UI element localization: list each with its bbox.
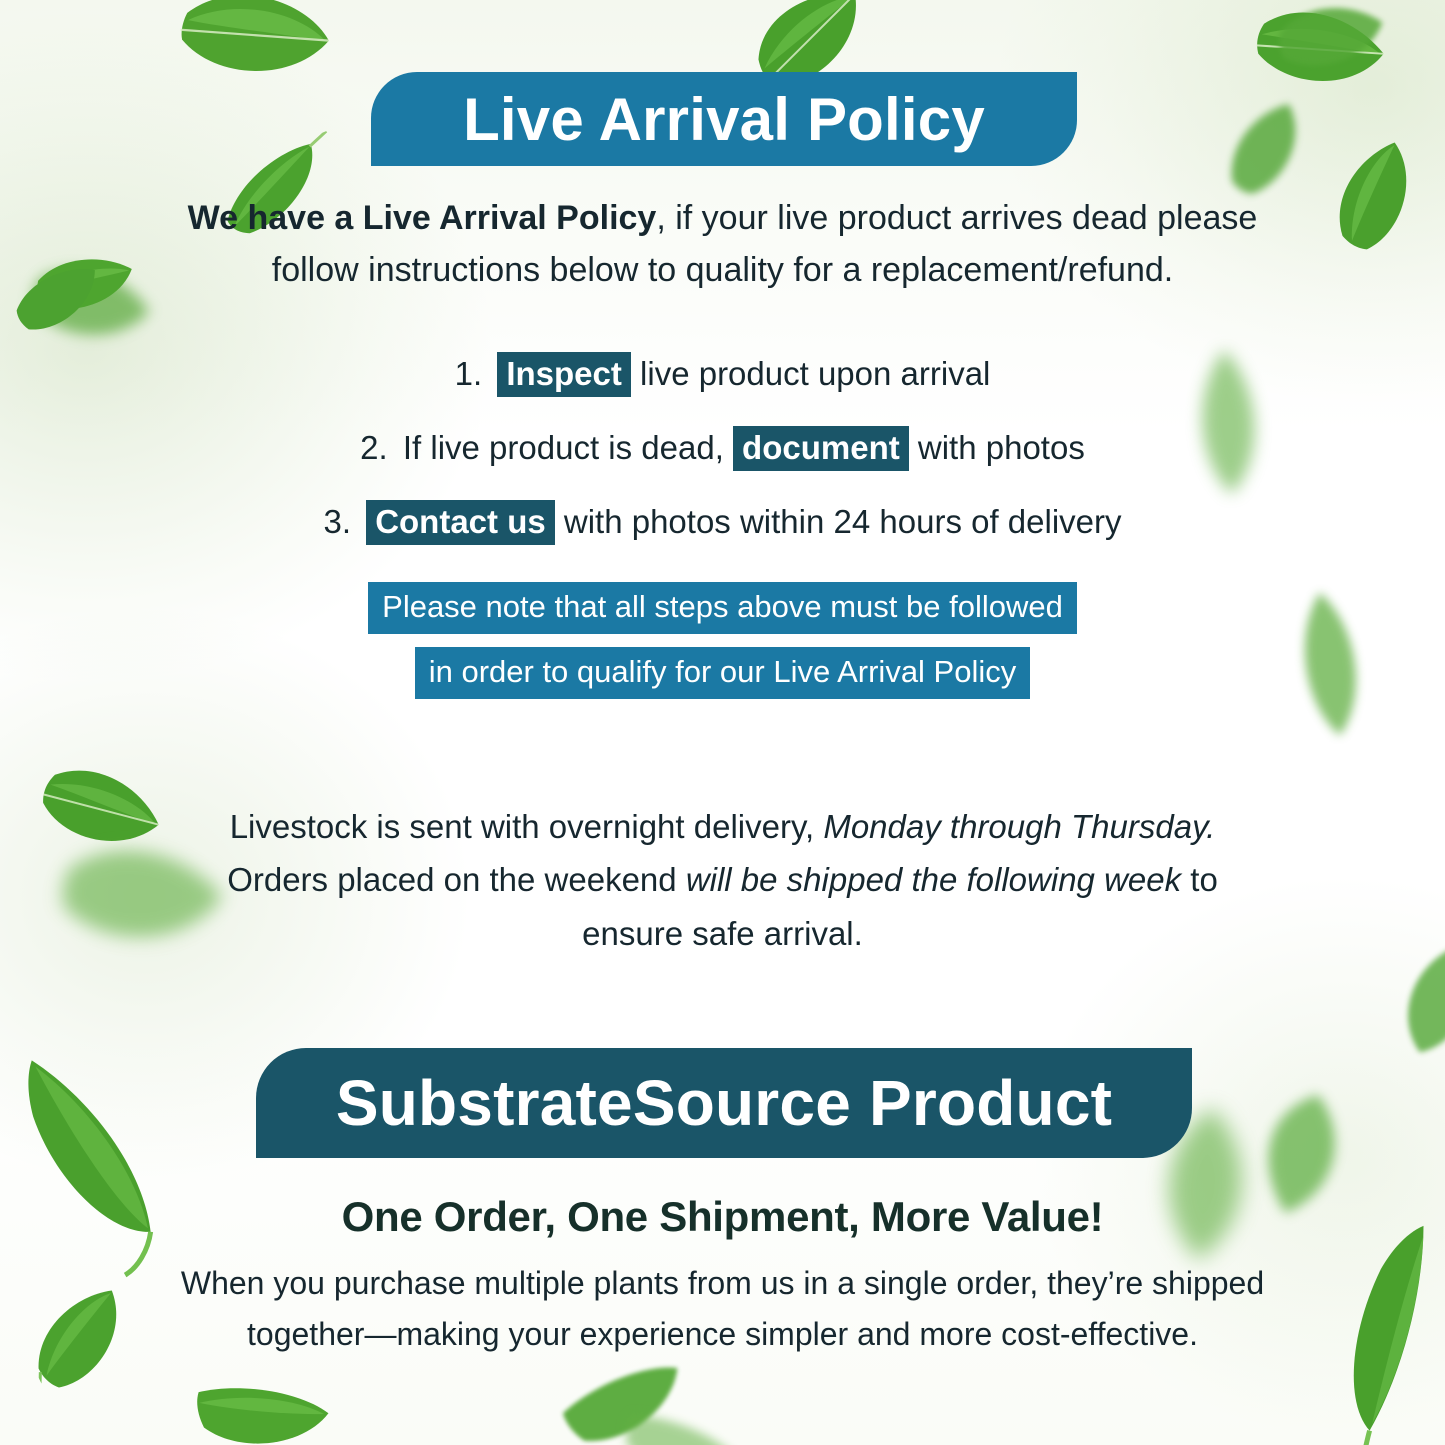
live-arrival-policy-infographic: Live Arrival Policy We have a Live Arriv… bbox=[0, 0, 1445, 1445]
content-layer: Live Arrival Policy We have a Live Arriv… bbox=[0, 0, 1445, 1445]
value-headline: One Order, One Shipment, More Value! bbox=[0, 1193, 1445, 1241]
step-1-number: 1. bbox=[455, 355, 483, 392]
intro-bold-lead: We have a Live Arrival Policy bbox=[188, 199, 657, 237]
policy-note-line-1: Please note that all steps above must be… bbox=[368, 582, 1077, 634]
step-3-highlight: Contact us bbox=[366, 500, 555, 545]
value-paragraph: When you purchase multiple plants from u… bbox=[0, 1258, 1445, 1359]
step-3-number: 3. bbox=[323, 503, 351, 540]
list-item-step-1: 1. Inspect live product upon arrival bbox=[0, 352, 1445, 397]
shipping-italic-2: will be shipped the following week bbox=[686, 861, 1181, 898]
list-item-step-3: 3. Contact us with photos within 24 hour… bbox=[0, 500, 1445, 545]
shipping-italic-1: Monday through Thursday. bbox=[823, 808, 1215, 845]
step-2-number: 2. bbox=[360, 429, 388, 466]
step-1-highlight: Inspect bbox=[497, 352, 631, 397]
step-1-after: live product upon arrival bbox=[640, 355, 990, 392]
step-2-after: with photos bbox=[918, 429, 1085, 466]
step-2-highlight: document bbox=[733, 426, 909, 471]
shipping-part-2: Orders placed on the weekend bbox=[227, 861, 686, 898]
substratesource-product-banner: SubstrateSource Product bbox=[256, 1048, 1192, 1158]
policy-note-block: Please note that all steps above must be… bbox=[0, 582, 1445, 712]
steps-list: 1. Inspect live product upon arrival 2. … bbox=[0, 352, 1445, 574]
live-arrival-policy-banner: Live Arrival Policy bbox=[371, 72, 1077, 166]
list-item-step-2: 2. If live product is dead, document wit… bbox=[0, 426, 1445, 471]
intro-paragraph: We have a Live Arrival Policy, if your l… bbox=[0, 193, 1445, 296]
policy-note-line-2: in order to qualify for our Live Arrival… bbox=[415, 647, 1031, 699]
live-arrival-policy-title: Live Arrival Policy bbox=[463, 85, 985, 154]
substratesource-product-title: SubstrateSource Product bbox=[336, 1066, 1112, 1140]
step-3-after: with photos within 24 hours of delivery bbox=[564, 503, 1122, 540]
step-2-before: If live product is dead, bbox=[403, 429, 724, 466]
shipping-paragraph: Livestock is sent with overnight deliver… bbox=[0, 800, 1445, 960]
shipping-part-1: Livestock is sent with overnight deliver… bbox=[230, 808, 824, 845]
